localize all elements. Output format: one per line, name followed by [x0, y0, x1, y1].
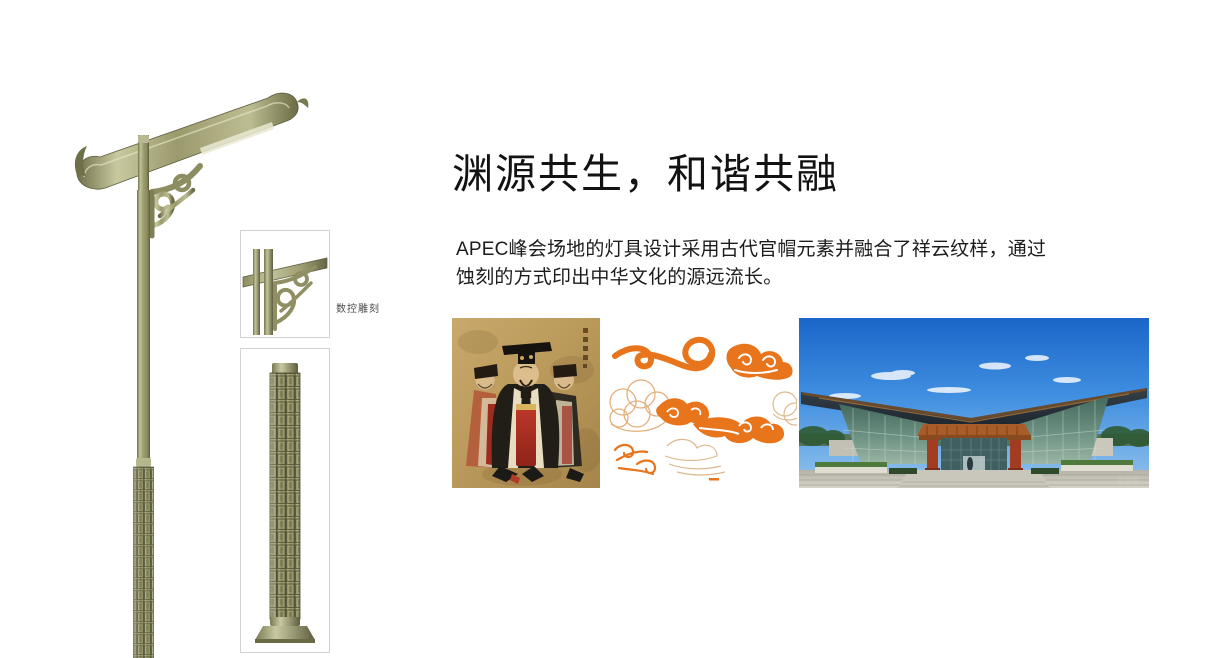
lamp-pole-upper: [137, 190, 150, 460]
body-paragraph: APEC峰会场地的灯具设计采用古代官帽元素并融合了祥云纹样，通过蚀刻的方式印出中…: [456, 236, 1056, 291]
page-title: 渊源共生，和谐共融: [452, 152, 839, 197]
scroll-bracket: [152, 166, 200, 236]
emperor-portrait-image: [452, 318, 600, 488]
detail-caption-cnc: 数控雕刻: [336, 300, 380, 315]
venue-watermark: ░░░: [1117, 475, 1139, 486]
lamp-figure: 数控雕刻: [0, 0, 340, 658]
apec-venue-image: ░░░: [799, 318, 1149, 488]
auspicious-cloud-motifs-image: [607, 318, 797, 488]
detail-panel-pole: [240, 348, 330, 653]
detail-panel-bracket: [240, 230, 330, 338]
